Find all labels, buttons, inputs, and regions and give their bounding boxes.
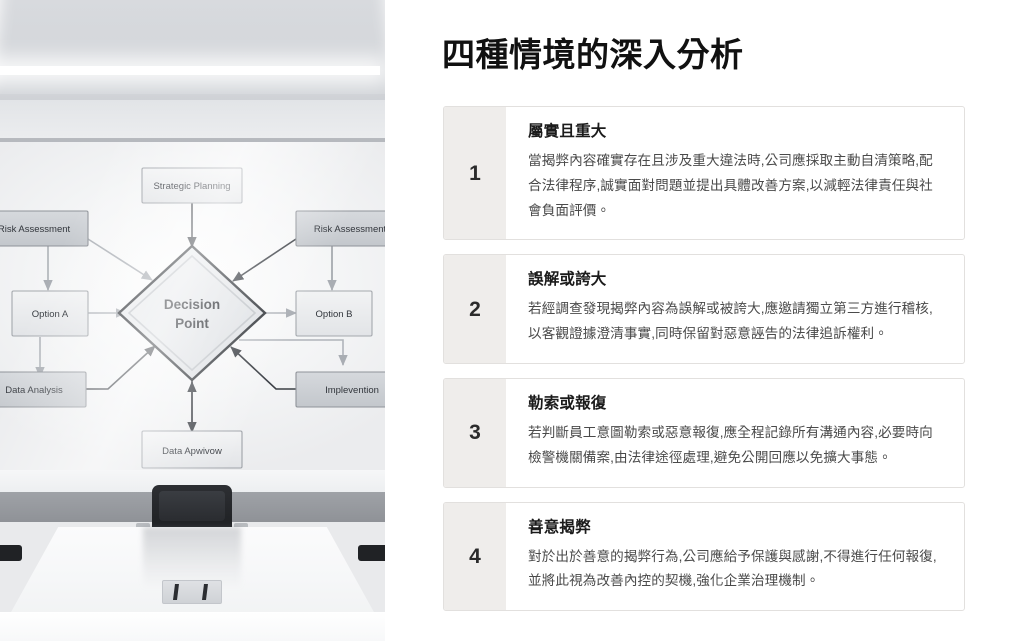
scenario-heading-3: 勒索或報復: [528, 394, 944, 414]
node-label-risk-assessment-right: Risk Assessment: [314, 224, 385, 235]
scenario-heading-1: 屬實且重大: [528, 122, 944, 142]
decision-point-line1: Decision: [164, 297, 220, 312]
port-slot-left: [173, 584, 179, 600]
scenario-number-3: 3: [444, 379, 506, 487]
node-label-option-b: Option B: [316, 309, 353, 320]
table-power-port: [162, 580, 222, 604]
node-label-strategic-planning: Strategic Planning: [153, 181, 230, 192]
page-title: 四種情境的深入分析: [442, 36, 744, 74]
ceiling-shadow: [0, 100, 385, 142]
scenario-number-2: 2: [444, 255, 506, 363]
scenario-heading-2: 誤解或誇大: [528, 270, 944, 290]
node-label-option-a: Option A: [32, 309, 69, 320]
node-label-risk-assessment-left: Risk Assessment: [0, 224, 71, 235]
node-label-implementation: Implevention: [325, 385, 379, 396]
scenario-card-1[interactable]: 1 屬實且重大 當揭弊內容確實存在且涉及重大違法時,公司應採取主動自清策略,配合…: [443, 106, 965, 240]
scenario-body-2: 誤解或誇大 若經調查發現揭弊內容為誤解或被誇大,應邀請獨立第三方進行稽核,以客觀…: [506, 255, 964, 363]
node-label-data-analysis: Data Analysis: [5, 385, 63, 396]
scenario-text-2: 若經調查發現揭弊內容為誤解或被誇大,應邀請獨立第三方進行稽核,以客觀證據澄清事實…: [528, 297, 944, 346]
content-panel: 四種情境的深入分析 1 屬實且重大 當揭弊內容確實存在且涉及重大違法時,公司應採…: [385, 0, 1024, 641]
scenario-text-4: 對於出於善意的揭弊行為,公司應給予保護與感謝,不得進行任何報復,並將此視為改善內…: [528, 545, 944, 594]
chair-mesh-panel: [159, 491, 225, 521]
slide-root: Decision Point Strategic Planning Risk A…: [0, 0, 1024, 641]
scenario-card-2[interactable]: 2 誤解或誇大 若經調查發現揭弊內容為誤解或被誇大,應邀請獨立第三方進行稽核,以…: [443, 254, 965, 364]
side-chair-right: [358, 545, 385, 561]
scenario-body-1: 屬實且重大 當揭弊內容確實存在且涉及重大違法時,公司應採取主動自清策略,配合法律…: [506, 107, 964, 239]
ceiling-panel: [0, 0, 385, 138]
scenario-card-3[interactable]: 3 勒索或報復 若判斷員工意圖勒索或惡意報復,應全程記錄所有溝通內容,必要時向檢…: [443, 378, 965, 488]
scenario-text-3: 若判斷員工意圖勒索或惡意報復,應全程記錄所有溝通內容,必要時向檢警機關備案,由法…: [528, 421, 944, 470]
table-front-edge: [0, 612, 385, 641]
decision-point-line2: Point: [175, 316, 209, 331]
conference-room-photo: Decision Point Strategic Planning Risk A…: [0, 0, 385, 641]
scenario-number-1: 1: [444, 107, 506, 239]
scenario-heading-4: 善意揭弊: [528, 518, 944, 538]
scenario-card-4[interactable]: 4 善意揭弊 對於出於善意的揭弊行為,公司應給予保護與感謝,不得進行任何報復,並…: [443, 502, 965, 612]
ceiling-recess: [0, 0, 385, 94]
ceiling-light-bottom: [0, 66, 380, 75]
port-slot-right: [202, 584, 208, 600]
node-label-data-apwivow: Data Apwivow: [162, 446, 222, 457]
scenario-text-1: 當揭弊內容確實存在且涉及重大違法時,公司應採取主動自清策略,配合法律程序,誠實面…: [528, 149, 944, 223]
decision-flowchart: Decision Point Strategic Planning Risk A…: [0, 150, 385, 480]
scenario-body-4: 善意揭弊 對於出於善意的揭弊行為,公司應給予保護與感謝,不得進行任何報復,並將此…: [506, 503, 964, 611]
scenario-body-3: 勒索或報復 若判斷員工意圖勒索或惡意報復,應全程記錄所有溝通內容,必要時向檢警機…: [506, 379, 964, 487]
scenario-number-4: 4: [444, 503, 506, 611]
scenario-card-list: 1 屬實且重大 當揭弊內容確實存在且涉及重大違法時,公司應採取主動自清策略,配合…: [443, 106, 965, 611]
side-chair-left: [0, 545, 22, 561]
conference-chair: [152, 485, 232, 533]
